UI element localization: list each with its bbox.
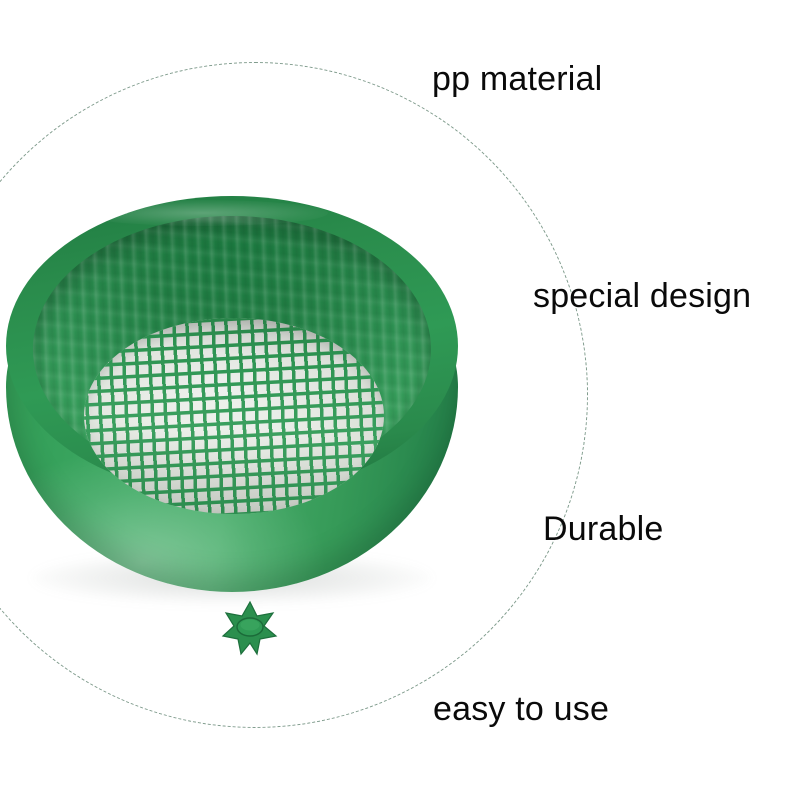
- rim-highlight: [78, 200, 328, 226]
- sieve-mesh-screen: [84, 318, 384, 514]
- feature-label-durable: Durable: [543, 512, 663, 546]
- center-star-boss-icon: [219, 600, 281, 656]
- mesh-shading-overlay: [84, 318, 384, 514]
- feature-label-easy-to-use: easy to use: [433, 692, 609, 726]
- feature-label-special-design: special design: [533, 279, 751, 313]
- product-image-sieve: [6, 196, 458, 600]
- product-feature-image: pp material special design Durable easy …: [0, 0, 800, 800]
- feature-label-pp-material: pp material: [432, 62, 602, 96]
